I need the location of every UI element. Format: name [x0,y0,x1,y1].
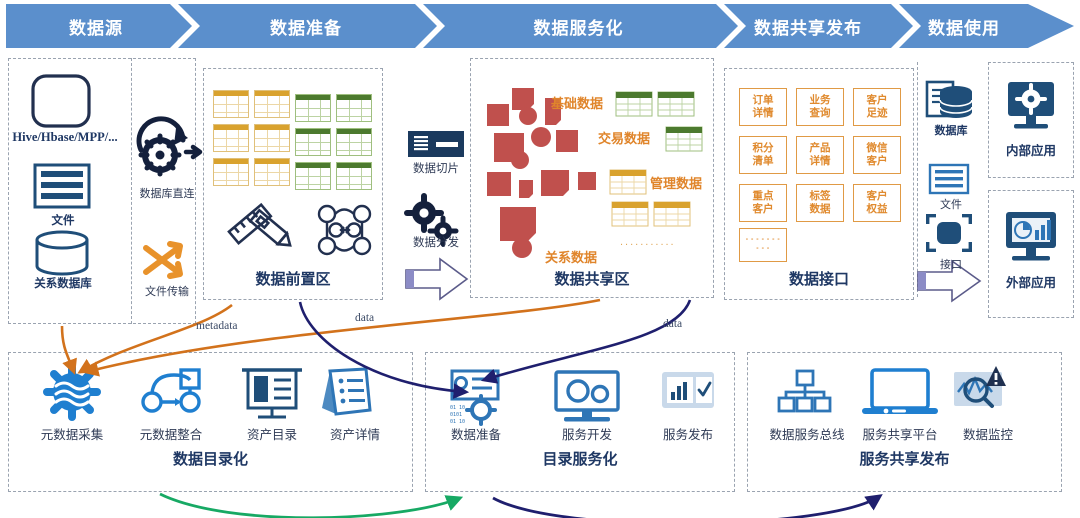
sharing-label-3: 关系数据 [545,247,597,266]
api-box-line1: 客户 [867,94,888,107]
api-box-line2: 详情 [753,107,774,120]
bottom-link-arrows [160,494,880,518]
interface-title: 数据接口 [725,268,913,289]
bottom-panel-title-0: 数据目录化 [9,448,412,469]
bottom-panel-title-2: 服务共享发布 [748,448,1061,469]
panel-external-application [988,190,1074,318]
api-box-line2: 客户 [753,203,774,216]
flow-label-data-1: data [355,312,374,324]
banner-segment-5[interactable]: 数据使用 [899,4,1029,48]
interface-node-icon [926,214,972,252]
ingest-label-0: 数据库直连 [131,185,203,201]
api-box-line2: 详情 [810,155,831,168]
api-box-5[interactable]: 微信 客户 [853,136,901,174]
api-box-more-line2: - - - [756,245,769,254]
banner-segment-4[interactable]: 数据共享发布 [724,4,892,48]
source-label-2: 关系数据库 [14,275,112,291]
api-box-line2: 清单 [753,155,774,168]
source-label-0: Hive/Hbase/MPP/... [0,130,130,145]
api-box-6[interactable]: 重点 客户 [739,184,787,222]
panel-service-sharing-publish: 服务共享发布 [747,352,1062,492]
staging-title: 数据前置区 [204,268,382,289]
catalog-item-label-0: 元数据采集 [22,424,122,443]
staging-table-green [336,162,372,190]
banner-segment-3[interactable]: 数据服务化 [446,4,711,48]
diagram-canvas: 数据源 数据准备 数据服务化 数据共享发布 数据使用 数据前置区 数据共享区 数… [0,0,1080,518]
flow-label-metadata: metadata [196,320,238,332]
api-box-line1: 产品 [810,142,831,155]
panel-catalog-servitization: 目录服务化 [425,352,735,492]
publish-item-label-2: 数据监控 [946,424,1030,443]
api-box-line2: 查询 [810,107,831,120]
staging-table-green [295,162,331,190]
api-box-line1: 标签 [810,190,831,203]
banner-segment-1[interactable]: 数据源 [16,4,176,48]
bottom-panel-title-1: 目录服务化 [426,448,734,469]
delivery-divider [917,62,918,297]
database-docs-icon [927,82,972,118]
panel-internal-application [988,62,1074,178]
application-label-0: 内部应用 [988,140,1074,159]
banner-segment-2[interactable]: 数据准备 [201,4,411,48]
api-box-line2: 客户 [867,155,888,168]
block-arrow-right-icon-1 [406,259,467,299]
catalog-item-label-3: 资产详情 [305,424,405,443]
api-box-line2: 数据 [810,203,831,216]
servitization-item-label-0: 数据准备 [426,424,526,443]
servitization-item-label-1: 服务开发 [537,424,637,443]
api-box-line1: 客户 [867,190,888,203]
distribute-label-0: 数据切片 [400,160,472,176]
staging-table-orange [254,124,290,152]
api-box-line1: 微信 [867,142,888,155]
api-box-line1: 订单 [753,94,774,107]
api-box-line2: 权益 [867,203,888,216]
publish-item-label-0: 数据服务总线 [762,424,852,443]
staging-table-green [336,128,372,156]
api-box-3[interactable]: 积分 清单 [739,136,787,174]
api-box-line1: 重点 [753,190,774,203]
staging-table-orange [213,158,249,186]
delivery-label-0: 数据库 [920,122,982,138]
staging-table-orange [254,90,290,118]
sharing-zone-title: 数据共享区 [471,268,713,289]
sharing-ellipsis: ........... [620,236,676,248]
staging-table-orange [213,90,249,118]
flow-label-data-2: data [663,318,682,330]
ingest-label-1: 文件传输 [131,283,203,299]
api-box-4[interactable]: 产品 详情 [796,136,844,174]
api-box-2[interactable]: 客户 足迹 [853,88,901,126]
api-box-line2: 足迹 [867,107,888,120]
servitization-item-label-2: 服务发布 [638,424,738,443]
staging-table-green [295,94,331,122]
publish-item-label-1: 服务共享平台 [855,424,945,443]
api-box-7[interactable]: 标签 数据 [796,184,844,222]
api-box-8[interactable]: 客户 权益 [853,184,901,222]
api-box-line1: 业务 [810,94,831,107]
api-box-more-line1: - - - - - - - [746,236,781,245]
api-box-line1: 积分 [753,142,774,155]
panel-data-cataloging: 数据目录化 [8,352,413,492]
api-box-more[interactable]: - - - - - - - - - - [739,228,787,262]
staging-table-green [295,128,331,156]
delivery-label-2: 接口 [920,256,982,272]
sharing-label-1: 交易数据 [598,128,650,147]
data-slice-icon [408,131,464,157]
distribute-label-1: 数据分发 [400,234,472,250]
api-box-0[interactable]: 订单 详情 [739,88,787,126]
source-label-1: 文件 [20,212,106,228]
api-box-1[interactable]: 业务 查询 [796,88,844,126]
sharing-label-0: 基础数据 [551,93,603,112]
application-label-1: 外部应用 [988,272,1074,291]
catalog-item-label-1: 元数据整合 [121,424,221,443]
staging-table-orange [213,124,249,152]
staging-table-orange [254,158,290,186]
file-lines-icon-delivery [930,165,968,193]
delivery-label-1: 文件 [920,196,982,212]
process-banner: 数据源 数据准备 数据服务化 数据共享发布 数据使用 [6,4,1074,48]
sharing-label-2: 管理数据 [650,173,702,192]
staging-table-green [336,94,372,122]
